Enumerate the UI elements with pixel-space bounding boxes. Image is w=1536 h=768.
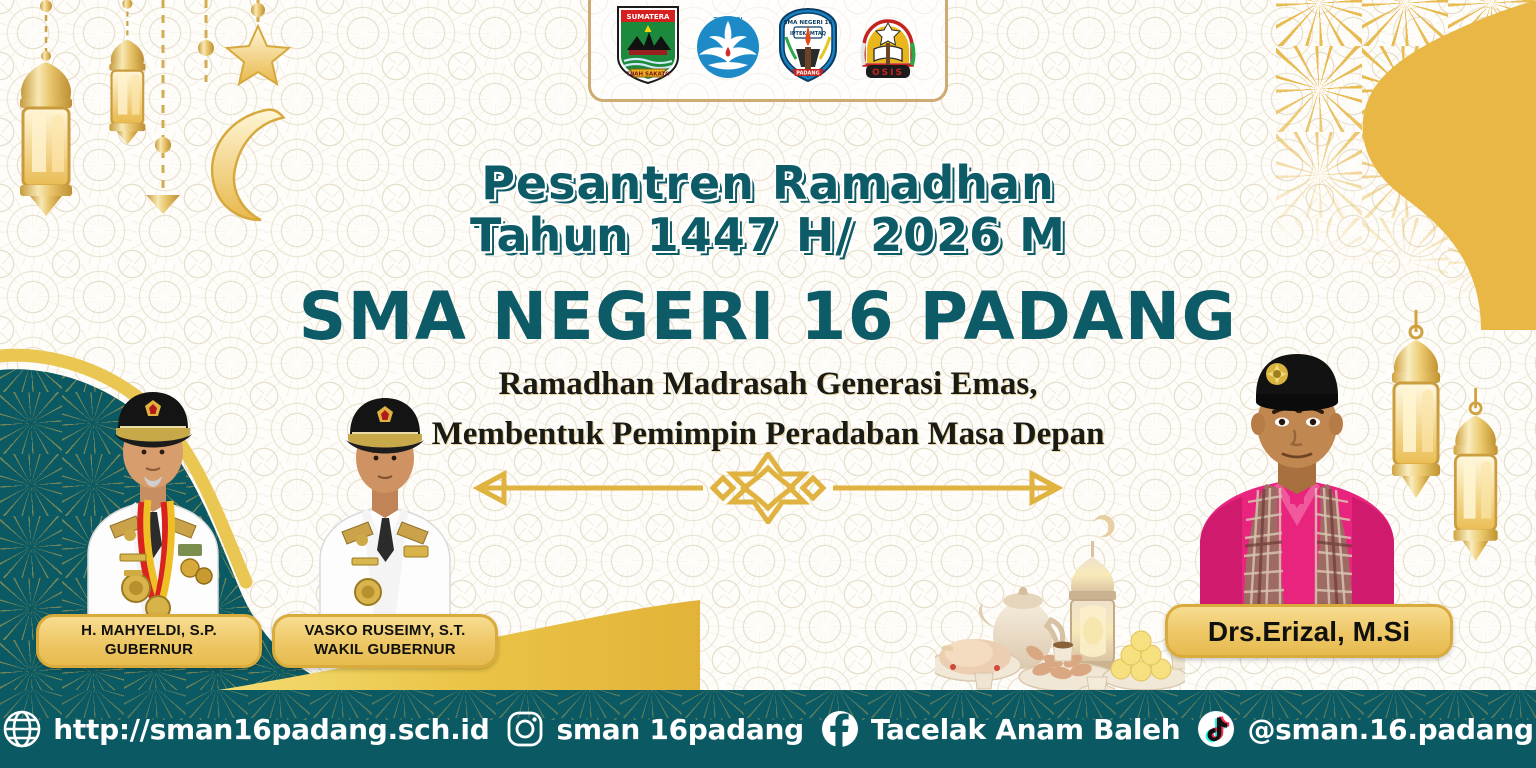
ramadan-banner: SUMATERA TUAH SAKATO TUT WURI SMA NEGERI… (0, 0, 1536, 768)
vice-governor-position: WAKIL GUBERNUR (314, 641, 456, 660)
osis-logo: OSIS (852, 3, 924, 85)
contact-tiktok[interactable]: @sman.16.padang (1196, 709, 1533, 749)
globe-icon (2, 709, 42, 749)
logo-box: SUMATERA TUAH SAKATO TUT WURI SMA NEGERI… (588, 0, 948, 102)
facebook-icon (820, 709, 860, 749)
svg-text:SUMATERA: SUMATERA (627, 13, 671, 21)
nameplate-principal: Drs.Erizal, M.Si (1165, 604, 1453, 658)
contact-website[interactable]: http://sman16padang.sch.id (2, 709, 489, 749)
sumatera-barat-emblem-logo: SUMATERA TUAH SAKATO (612, 3, 684, 85)
event-title-line-2: Tahun 1447 H/ 2026 M (0, 210, 1536, 262)
website-url: http://sman16padang.sch.id (53, 713, 489, 746)
event-title: Pesantren Ramadhan Tahun 1447 H/ 2026 M (0, 158, 1536, 261)
contact-bar: http://sman16padang.sch.id sman 16padang… (0, 690, 1536, 768)
principal-name: Drs.Erizal, M.Si (1208, 614, 1410, 649)
tiktok-icon (1196, 709, 1236, 749)
instagram-icon (505, 709, 545, 749)
contact-instagram[interactable]: sman 16padang (505, 709, 803, 749)
svg-text:OSIS: OSIS (872, 68, 904, 78)
vice-governor-portrait (292, 340, 478, 630)
sma-negeri-16-padang-logo: SMA NEGERI 16 IPTEK IMTAQ PADANG (772, 3, 844, 85)
governor-position: GUBERNUR (105, 641, 193, 660)
governor-portrait (58, 330, 248, 630)
principal-portrait (1182, 312, 1412, 622)
ramadan-food-illustration (935, 505, 1185, 700)
svg-text:SMA NEGERI 16: SMA NEGERI 16 (784, 20, 833, 26)
svg-text:PADANG: PADANG (796, 71, 819, 77)
tiktok-handle: @sman.16.padang (1247, 713, 1533, 746)
instagram-handle: sman 16padang (556, 713, 803, 746)
governor-name: H. MAHYELDI, S.P. (81, 622, 217, 641)
facebook-page: Tacelak Anam Baleh (871, 713, 1181, 746)
nameplate-governor: H. MAHYELDI, S.P. GUBERNUR (36, 614, 262, 668)
svg-text:TUAH SAKATO: TUAH SAKATO (626, 72, 670, 78)
svg-text:TUT WURI: TUT WURI (714, 17, 743, 23)
event-title-line-1: Pesantren Ramadhan (0, 158, 1536, 210)
vice-governor-name: VASKO RUSEIMY, S.T. (304, 622, 465, 641)
contact-facebook[interactable]: Tacelak Anam Baleh (820, 709, 1181, 749)
tut-wuri-handayani-logo: TUT WURI (692, 3, 764, 85)
nameplate-vice-governor: VASKO RUSEIMY, S.T. WAKIL GUBERNUR (272, 614, 498, 668)
